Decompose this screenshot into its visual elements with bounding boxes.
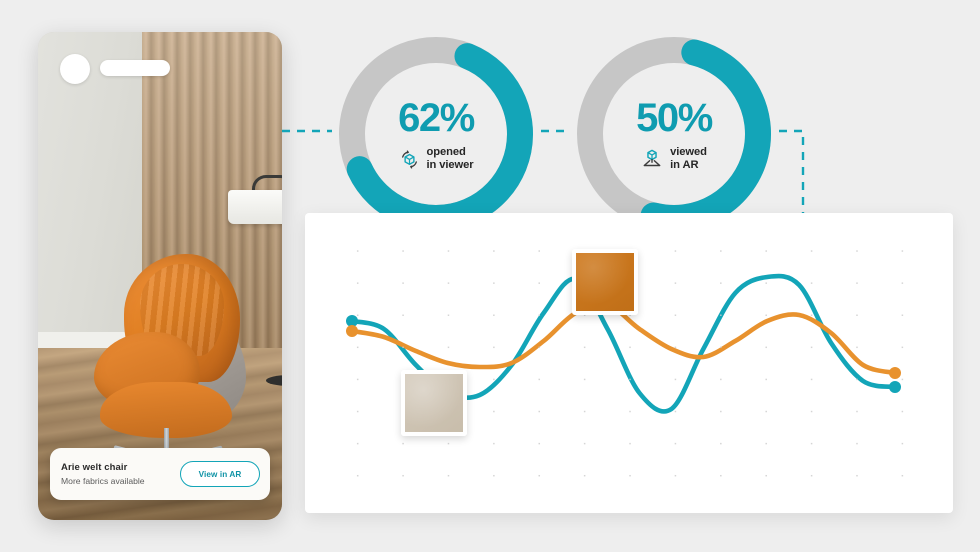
- donut-center-content: 50% viewed in AR: [568, 28, 780, 240]
- connector-donut2-to-chart: [779, 131, 803, 216]
- product-card: Arie welt chair More fabrics available V…: [50, 448, 270, 500]
- chart-panel: [305, 213, 953, 513]
- donut-label-text: opened in viewer: [427, 146, 474, 172]
- donut-label-line2: in viewer: [427, 159, 474, 171]
- donut-label-text: viewed in AR: [670, 146, 707, 172]
- product-card-text: Arie welt chair More fabrics available: [61, 462, 145, 486]
- infographic-stage: Arie welt chair More fabrics available V…: [0, 0, 980, 552]
- donut-label-row: viewed in AR: [641, 146, 707, 172]
- donut-label-line1: viewed: [670, 146, 707, 158]
- donut-label-line2: in AR: [670, 159, 698, 171]
- view-in-ar-button[interactable]: View in AR: [180, 461, 260, 487]
- beige-fabric-swatch[interactable]: [401, 370, 467, 436]
- ar-cube-icon: [641, 148, 663, 170]
- donut-label-line1: opened: [427, 146, 466, 158]
- back-button[interactable]: [60, 54, 90, 84]
- donut-center-content: 62% opened in viewer: [330, 28, 542, 240]
- search-pill[interactable]: [100, 60, 170, 76]
- product-title: Arie welt chair: [61, 462, 145, 473]
- phone-mockup: Arie welt chair More fabrics available V…: [38, 32, 282, 520]
- donut-viewed-in-ar: 50% viewed in AR: [568, 28, 780, 240]
- product-subtitle: More fabrics available: [61, 476, 145, 486]
- donut-opened-in-viewer: 62% opened in viewer: [330, 28, 542, 240]
- floor-lamp-shade: [228, 190, 282, 224]
- orange-fabric-swatch[interactable]: [572, 249, 638, 315]
- donut-percent: 50%: [636, 98, 712, 138]
- donut-label-row: opened in viewer: [399, 146, 474, 172]
- donut-percent: 62%: [398, 98, 474, 138]
- rotate-cube-icon: [399, 149, 420, 170]
